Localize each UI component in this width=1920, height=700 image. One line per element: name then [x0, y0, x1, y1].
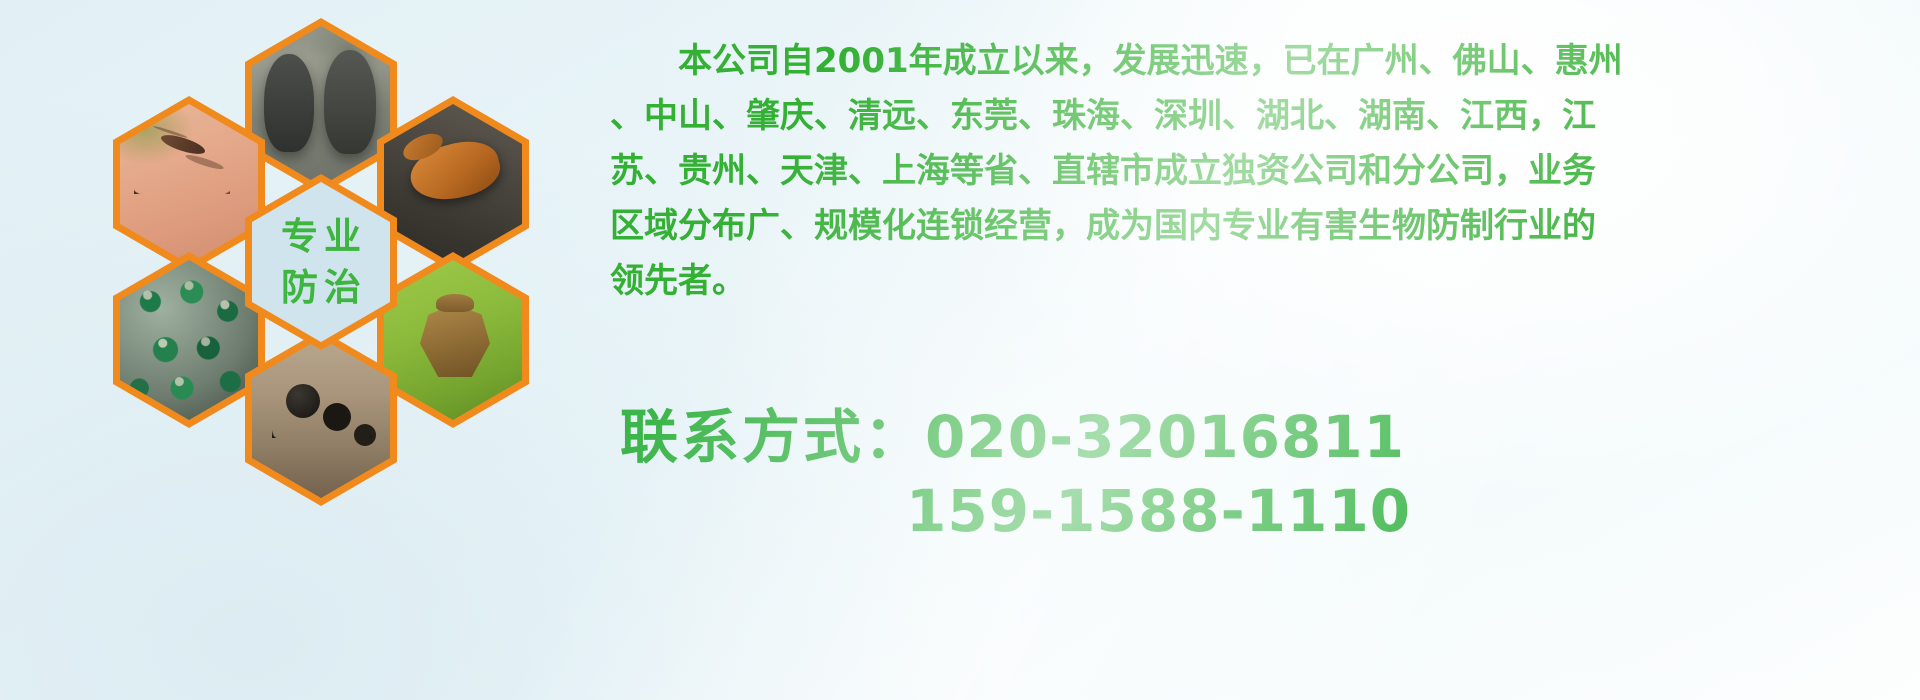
ant-icon — [252, 338, 390, 498]
promo-banner: 专业 防治 本公司自2001年成立以来，发展迅速，已在广州、佛山、惠州 、中山、… — [0, 0, 1920, 700]
hexagon-photo-cluster: 专业 防治 — [85, 8, 585, 568]
company-intro-block: 本公司自2001年成立以来，发展迅速，已在广州、佛山、惠州 、中山、肇庆、清远、… — [610, 34, 1900, 309]
contact-primary-row: 联系方式：020-32016811 — [620, 400, 1910, 474]
contact-label: 联系方式： — [620, 403, 925, 471]
slogan-line-2: 防治 — [275, 262, 367, 313]
contact-block: 联系方式：020-32016811 159-1588-1110 — [620, 400, 1910, 548]
phone-primary[interactable]: 020-32016811 — [925, 403, 1405, 471]
intro-line-4: 区域分布广、规模化连锁经营，成为国内专业有害生物防制行业的 — [610, 199, 1900, 254]
hex-mosquito-photo — [113, 96, 265, 272]
phone-secondary[interactable]: 159-1588-1110 — [906, 477, 1411, 545]
flies-icon — [120, 260, 258, 420]
slogan-line-1: 专业 — [275, 211, 367, 262]
cockroach-icon — [384, 104, 522, 264]
company-intro-paragraph: 本公司自2001年成立以来，发展迅速，已在广州、佛山、惠州 、中山、肇庆、清远、… — [610, 34, 1900, 309]
hex-ant-photo — [245, 330, 397, 506]
stinkbug-icon — [384, 260, 522, 420]
hex-flies-photo — [113, 252, 265, 428]
hex-rats-photo — [245, 18, 397, 194]
intro-line-2: 、中山、肇庆、清远、东莞、珠海、深圳、湖北、湖南、江西，江 — [610, 89, 1900, 144]
hex-slogan-tile: 专业 防治 — [245, 174, 397, 350]
mosquito-icon — [120, 104, 258, 264]
intro-line-3: 苏、贵州、天津、上海等省、直辖市成立独资公司和分公司，业务 — [610, 144, 1900, 199]
hex-cockroach-photo — [377, 96, 529, 272]
rats-icon — [252, 26, 390, 186]
intro-line-1: 本公司自2001年成立以来，发展迅速，已在广州、佛山、惠州 — [610, 34, 1900, 89]
hex-stinkbug-photo — [377, 252, 529, 428]
intro-line-5: 领先者。 — [610, 254, 1900, 309]
contact-secondary-row: 159-1588-1110 — [620, 474, 1910, 548]
